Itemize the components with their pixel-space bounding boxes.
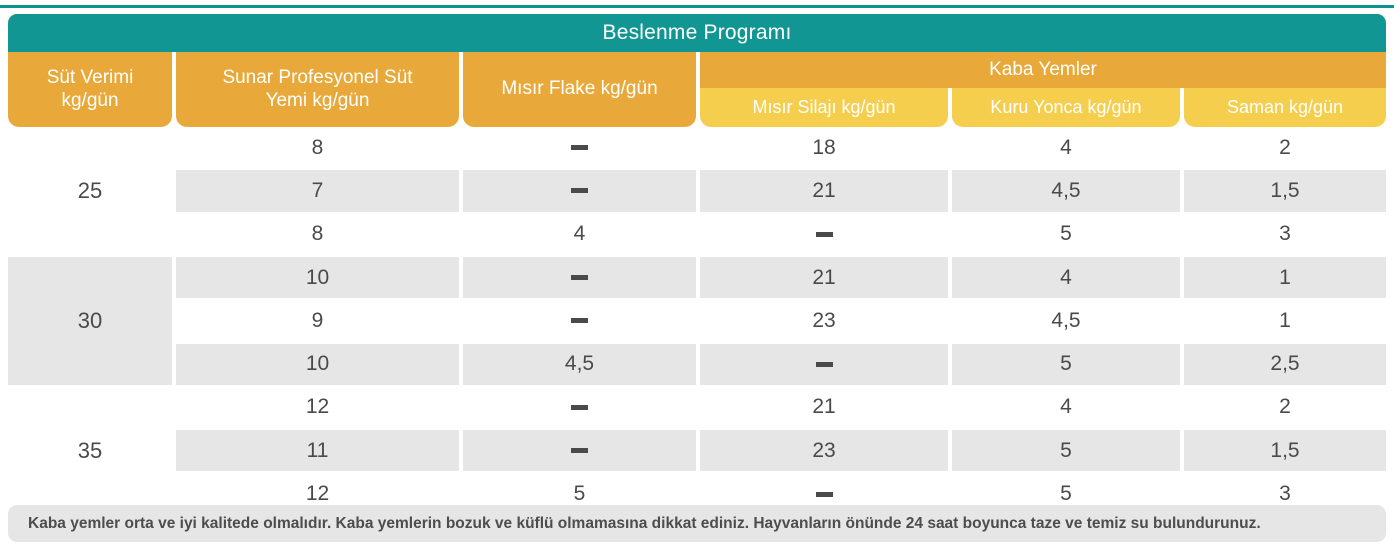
cell-concentrate: 10: [176, 257, 459, 298]
cell-concentrate: 9: [176, 300, 459, 341]
empty-value-dash-icon: [816, 492, 833, 497]
cell-corn-silage-value: 23: [812, 439, 835, 463]
cell-corn-flake: 4,5: [463, 344, 696, 385]
cell-dry-alfalfa: 4,5: [952, 170, 1180, 211]
column-group-header-roughage: Kaba Yemler: [700, 52, 1386, 88]
cell-milk-yield-value: 35: [78, 438, 102, 464]
column-header-straw: Saman kg/gün: [1184, 88, 1386, 127]
cell-straw-value: 1: [1279, 309, 1291, 333]
cell-corn-silage: 21: [700, 387, 948, 428]
cell-dry-alfalfa-value: 4: [1060, 266, 1072, 290]
column-header-milk-yield-line1: Süt Verimi: [47, 67, 134, 88]
footer-note: Kaba yemler orta ve iyi kalitede olmalıd…: [8, 505, 1386, 542]
cell-straw: 2,5: [1184, 344, 1386, 385]
cell-dry-alfalfa-value: 5: [1060, 439, 1072, 463]
column-header-concentrate-feed: Sunar Profesyonel Süt Yemi kg/gün: [176, 52, 459, 127]
cell-corn-flake: [463, 300, 696, 341]
cell-concentrate: 10: [176, 344, 459, 385]
cell-milk-yield: 30: [8, 257, 172, 385]
cell-corn-silage: 21: [700, 170, 948, 211]
cell-straw-value: 2: [1279, 136, 1291, 160]
cell-corn-flake-value: 4,5: [565, 352, 594, 376]
empty-value-dash-icon: [571, 318, 588, 323]
cell-corn-silage: 21: [700, 257, 948, 298]
cell-corn-silage: 23: [700, 300, 948, 341]
column-header-dry-alfalfa-label: Kuru Yonca kg/gün: [990, 97, 1141, 118]
cell-corn-silage-value: 21: [812, 179, 835, 203]
cell-corn-flake: [463, 257, 696, 298]
empty-value-dash-icon: [571, 448, 588, 453]
cell-concentrate: 11: [176, 430, 459, 471]
cell-straw: 2: [1184, 127, 1386, 168]
cell-corn-flake: [463, 387, 696, 428]
cell-concentrate: 8: [176, 127, 459, 168]
cell-corn-flake-value: 4: [574, 222, 586, 246]
cell-concentrate-value: 12: [306, 395, 329, 419]
table-title-bar: Beslenme Programı: [8, 14, 1386, 52]
cell-straw: 3: [1184, 214, 1386, 255]
cell-concentrate-value: 10: [306, 266, 329, 290]
cell-straw-value: 3: [1279, 222, 1291, 246]
cell-corn-flake: 4: [463, 214, 696, 255]
cell-corn-silage-value: 21: [812, 266, 835, 290]
cell-concentrate: 8: [176, 214, 459, 255]
cell-dry-alfalfa: 5: [952, 214, 1180, 255]
cell-corn-silage-value: 21: [812, 395, 835, 419]
cell-corn-silage: 23: [700, 430, 948, 471]
column-header-corn-flake-label: Mısır Flake kg/gün: [501, 78, 657, 100]
cell-corn-silage: [700, 214, 948, 255]
feeding-program-table: Beslenme Programı Süt Verimi kg/gün Suna…: [0, 0, 1394, 548]
top-rule-divider: [0, 5, 1394, 8]
cell-milk-yield-value: 25: [78, 178, 102, 204]
cell-straw-value: 1,5: [1270, 439, 1299, 463]
cell-corn-silage: 18: [700, 127, 948, 168]
cell-dry-alfalfa: 4: [952, 127, 1180, 168]
footer-note-text: Kaba yemler orta ve iyi kalitede olmalıd…: [28, 515, 1261, 533]
cell-corn-flake: [463, 430, 696, 471]
cell-dry-alfalfa: 4,5: [952, 300, 1180, 341]
cell-straw-value: 1: [1279, 266, 1291, 290]
column-header-concentrate-line2: Yemi kg/gün: [266, 90, 370, 111]
cell-dry-alfalfa-value: 4: [1060, 136, 1072, 160]
cell-dry-alfalfa: 5: [952, 430, 1180, 471]
cell-straw-value: 3: [1279, 482, 1291, 506]
column-header-corn-silage: Mısır Silajı kg/gün: [700, 88, 948, 127]
cell-milk-yield: 25: [8, 127, 172, 255]
cell-dry-alfalfa-value: 4,5: [1051, 309, 1080, 333]
cell-corn-silage-value: 18: [812, 136, 835, 160]
cell-dry-alfalfa-value: 5: [1060, 222, 1072, 246]
cell-corn-flake: [463, 127, 696, 168]
table-body: 25818427214,51,58453301021419234,51104,5…: [0, 127, 1394, 492]
cell-dry-alfalfa-value: 5: [1060, 482, 1072, 506]
cell-dry-alfalfa: 5: [952, 344, 1180, 385]
cell-concentrate-value: 8: [312, 136, 324, 160]
cell-concentrate: 12: [176, 387, 459, 428]
empty-value-dash-icon: [816, 362, 833, 367]
cell-concentrate-value: 12: [306, 482, 329, 506]
cell-concentrate: 7: [176, 170, 459, 211]
cell-dry-alfalfa: 4: [952, 387, 1180, 428]
empty-value-dash-icon: [571, 275, 588, 280]
cell-dry-alfalfa: 4: [952, 257, 1180, 298]
cell-corn-flake: [463, 170, 696, 211]
cell-corn-silage-value: 23: [812, 309, 835, 333]
cell-concentrate-value: 10: [306, 352, 329, 376]
cell-straw-value: 2,5: [1270, 352, 1299, 376]
cell-dry-alfalfa-value: 4,5: [1051, 179, 1080, 203]
column-header-concentrate-line1: Sunar Profesyonel Süt: [222, 67, 412, 88]
empty-value-dash-icon: [571, 405, 588, 410]
cell-milk-yield: 35: [8, 387, 172, 515]
cell-straw-value: 1,5: [1270, 179, 1299, 203]
column-header-milk-yield-line2: kg/gün: [61, 90, 118, 111]
cell-corn-flake-value: 5: [574, 482, 586, 506]
column-group-header-roughage-label: Kaba Yemler: [989, 59, 1097, 81]
cell-dry-alfalfa-value: 5: [1060, 352, 1072, 376]
cell-straw: 2: [1184, 387, 1386, 428]
cell-straw: 1,5: [1184, 170, 1386, 211]
cell-corn-silage: [700, 344, 948, 385]
table-header-row: Süt Verimi kg/gün Sunar Profesyonel Süt …: [0, 52, 1394, 127]
column-header-straw-label: Saman kg/gün: [1227, 97, 1343, 118]
empty-value-dash-icon: [571, 188, 588, 193]
cell-dry-alfalfa-value: 4: [1060, 395, 1072, 419]
column-header-milk-yield: Süt Verimi kg/gün: [8, 52, 172, 127]
page-title: Beslenme Programı: [603, 21, 792, 45]
empty-value-dash-icon: [816, 232, 833, 237]
cell-milk-yield-value: 30: [78, 308, 102, 334]
column-header-corn-flake: Mısır Flake kg/gün: [463, 52, 696, 127]
cell-concentrate-value: 11: [307, 439, 329, 463]
cell-concentrate-value: 9: [312, 309, 324, 333]
cell-straw-value: 2: [1279, 395, 1291, 419]
cell-concentrate-value: 7: [312, 179, 324, 203]
empty-value-dash-icon: [571, 145, 588, 150]
column-header-corn-silage-label: Mısır Silajı kg/gün: [752, 97, 895, 118]
cell-straw: 1: [1184, 257, 1386, 298]
cell-concentrate-value: 8: [312, 222, 324, 246]
cell-straw: 1,5: [1184, 430, 1386, 471]
cell-straw: 1: [1184, 300, 1386, 341]
column-header-dry-alfalfa: Kuru Yonca kg/gün: [952, 88, 1180, 127]
